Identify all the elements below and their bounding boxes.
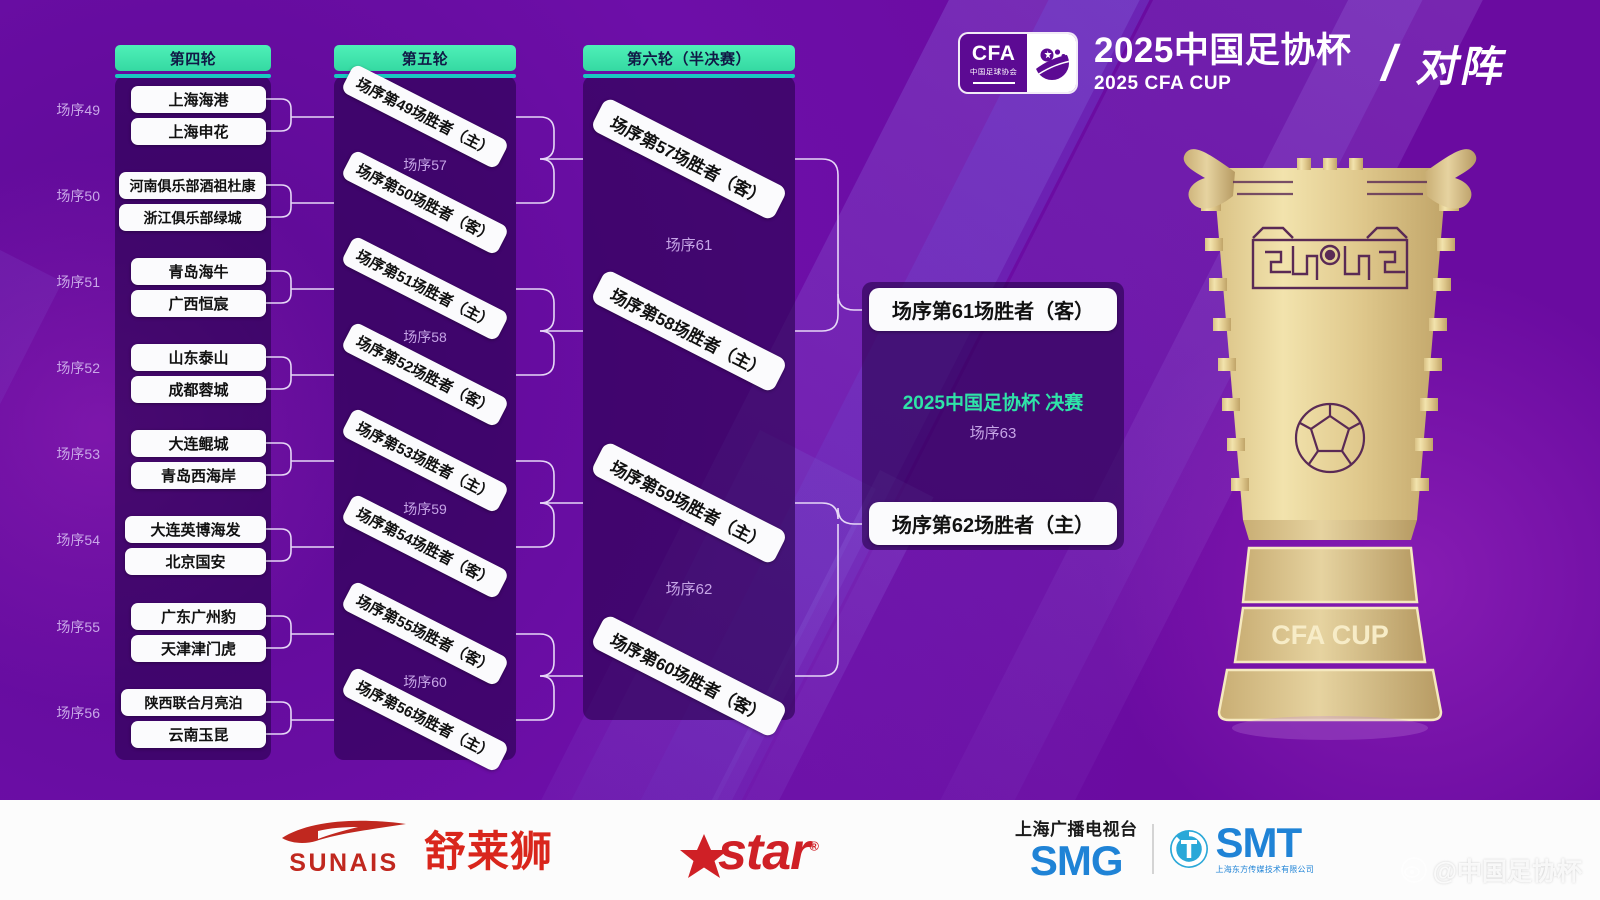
seq-label-50: 场序50 [20,186,100,206]
seq-label-53: 场序53 [20,444,100,464]
team-box[interactable]: 广西恒宸 [131,290,266,317]
team-box[interactable]: 青岛海牛 [131,258,266,285]
seq-label-55: 场序55 [20,617,100,637]
final-box-bottom[interactable]: 场序第62场胜者（主） [869,502,1117,545]
logo-divider [1152,824,1154,874]
team-box[interactable]: 云南玉昆 [131,721,266,748]
weibo-icon [1401,857,1427,883]
team-box[interactable]: 河南俱乐部酒祖杜康 [119,172,266,199]
team-box[interactable]: 北京国安 [125,548,266,575]
sunais-swoosh-icon [278,819,410,847]
smg-wordmark: SMG [1030,840,1123,882]
cfa-rule [973,82,1015,84]
seq-label-63: 场序63 [862,422,1124,443]
smt-logo: SMT 上海东方传媒技术有限公司 [1168,822,1314,875]
team-box[interactable]: 浙江俱乐部绿城 [119,204,266,231]
round4-header: 第四轮 [115,45,271,71]
team-box[interactable]: 山东泰山 [131,344,266,371]
section-title: 对阵 [1413,33,1514,94]
seq-label-62: 场序62 [587,578,791,599]
sponsor-footer: SUNAIS 舒莱狮 star® 上海广播电视台 SMG [0,800,1600,900]
smg-logo: 上海广播电视台 SMG [1015,815,1138,882]
seq-label-51: 场序51 [20,272,100,292]
sunais-wordmark: SUNAIS [289,849,398,878]
team-box[interactable]: 上海海港 [131,86,266,113]
team-box[interactable]: 上海申花 [131,118,266,145]
title-separator: / [1377,34,1403,92]
cfa-wordmark: CFA [972,43,1016,64]
seq-label-52: 场序52 [20,358,100,378]
seq-label-54: 场序54 [20,530,100,550]
round6-header: 第六轮（半决赛） [583,45,795,71]
cfa-chinese-name: 中国足球协会 [970,66,1017,76]
team-box[interactable]: 成都蓉城 [131,376,266,403]
cfa-logo: CFA 中国足球协会 [958,32,1078,94]
smt-globe-icon [1168,828,1210,870]
team-box[interactable]: 天津津门虎 [131,635,266,662]
seq-label-49: 场序49 [20,100,100,120]
team-box[interactable]: 大连英博海发 [125,516,266,543]
cfa-crest-icon [1032,43,1072,83]
final-box-top[interactable]: 场序第61场胜者（客） [869,288,1117,331]
trophy-base-text: CFA CUP [1271,620,1389,650]
bracket-poster: CFA 中国足球协会 [0,0,1600,900]
team-box[interactable]: 大连鲲城 [131,430,266,457]
smt-chinese: 上海东方传媒技术有限公司 [1216,864,1314,875]
star-wordmark: star® [718,822,818,882]
poster-header: CFA 中国足球协会 [958,32,1507,94]
seq-label-61: 场序61 [587,234,791,255]
registered-icon: ® [809,839,818,854]
team-box[interactable]: 陕西联合月亮泊 [121,689,266,716]
team-box[interactable]: 广东广州豹 [131,603,266,630]
sponsor-smg-smt: 上海广播电视台 SMG SMT 上海东方传媒技术有限公司 [1015,815,1314,882]
title-block: 2025中国足协杯 2025 CFA CUP [1094,33,1351,93]
bracket-area: 第四轮 第五轮 第六轮（半决赛） [0,0,960,790]
poster-title-cn: 2025中国足协杯 [1094,33,1351,68]
sponsor-star: star® [668,822,818,882]
watermark-text: @中国足协杯 [1433,852,1582,888]
seq-label-56: 场序56 [20,703,100,723]
smt-wordmark: SMT [1216,822,1314,864]
poster-title-en: 2025 CFA CUP [1094,74,1351,93]
sunais-chinese: 舒莱狮 [424,818,553,879]
weibo-watermark: @中国足协杯 [1401,852,1582,888]
sponsor-sunais: SUNAIS 舒莱狮 [278,818,553,879]
final-title: 2025中国足协杯 决赛 [862,388,1124,415]
team-box[interactable]: 青岛西海岸 [131,462,266,489]
trophy-icon: CFA CUP [1165,120,1495,740]
